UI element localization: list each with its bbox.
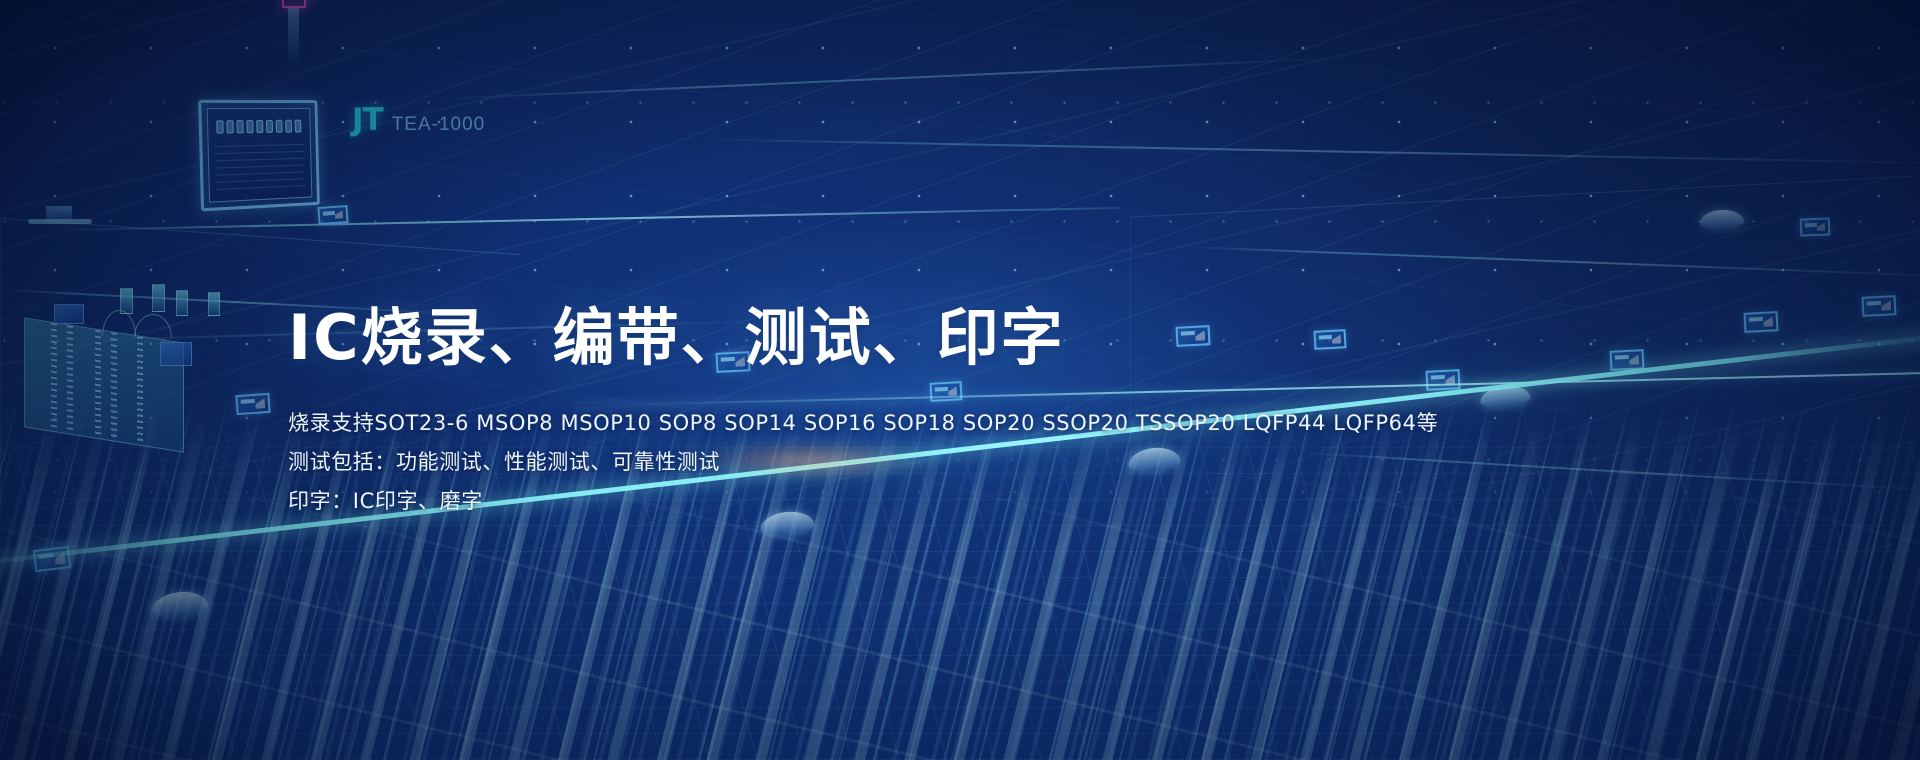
monitor-display bbox=[198, 100, 320, 212]
equipment-tube-4 bbox=[208, 292, 220, 316]
chip-tray-icon bbox=[1743, 311, 1778, 333]
equipment-module-1 bbox=[54, 304, 84, 324]
brand-model-text: TEA-1000 bbox=[392, 114, 486, 136]
service-line-burn-support: 烧录支持SOT23-6 MSOP8 MSOP10 SOP8 SOP14 SOP1… bbox=[288, 404, 1588, 443]
equipment-cable-2 bbox=[134, 314, 172, 338]
page-title: IC烧录、编带、测试、印字 bbox=[288, 305, 1588, 372]
equipment-brand-mark: JT TEA-1000 bbox=[352, 102, 485, 138]
equipment-module-2 bbox=[160, 342, 192, 366]
equipment-tube-3 bbox=[176, 290, 188, 316]
service-line-testing-scope: 测试包括：功能测试、性能测试、可靠性测试 bbox=[288, 443, 1588, 482]
hero-banner: JT TEA-1000 bbox=[0, 0, 1920, 760]
industrial-equipment-cluster bbox=[10, 270, 240, 470]
service-detail-list: 烧录支持SOT23-6 MSOP8 MSOP10 SOP8 SOP14 SOP1… bbox=[288, 404, 1588, 521]
monitor-base bbox=[28, 219, 92, 224]
monitor-chip-row bbox=[216, 120, 301, 134]
ceiling-fixture-icon bbox=[282, 0, 306, 8]
equipment-fin-5 bbox=[137, 336, 143, 445]
chip-tray-icon bbox=[1800, 217, 1831, 236]
ceiling-fixture-beam bbox=[288, 8, 299, 64]
monitor-scanlines bbox=[215, 144, 306, 193]
chip-tray-icon bbox=[317, 205, 348, 225]
equipment-fin-2 bbox=[67, 325, 73, 434]
brand-logo-text: JT bbox=[352, 102, 383, 138]
chip-tray-icon bbox=[235, 393, 270, 415]
chip-tray-icon bbox=[1861, 295, 1896, 317]
banner-content: IC烧录、编带、测试、印字 烧录支持SOT23-6 MSOP8 MSOP10 S… bbox=[288, 305, 1588, 520]
equipment-fin-3 bbox=[95, 330, 101, 439]
equipment-fin-4 bbox=[111, 332, 117, 441]
monitor-screen bbox=[207, 108, 313, 203]
equipment-fin-1 bbox=[51, 323, 57, 432]
service-line-marking-scope: 印字：IC印字、磨字 bbox=[288, 482, 1588, 521]
equipment-tube-2 bbox=[152, 284, 165, 312]
